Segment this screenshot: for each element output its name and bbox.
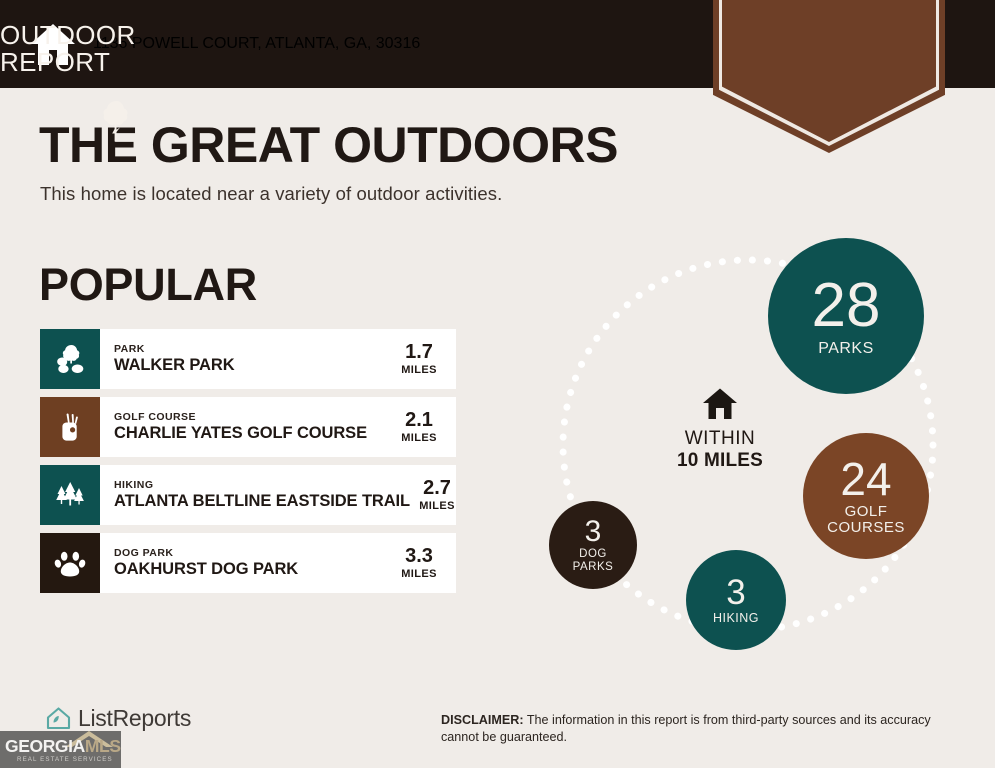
distance-value: 2.7 <box>423 478 451 499</box>
stat-count: 24 <box>840 456 891 502</box>
outdoor-report-page: 1136 POWELL COURT, ATLANTA, GA, 30316 OU… <box>0 0 995 768</box>
list-item-name: CHARLIE YATES GOLF COURSE <box>114 424 392 443</box>
listreports-house-icon <box>45 705 72 732</box>
paw-print-icon <box>40 533 100 593</box>
park-tree-icon <box>40 329 100 389</box>
listreports-wordmark: ListReports <box>78 705 191 732</box>
list-item-name: ATLANTA BELTLINE EASTSIDE TRAIL <box>114 492 410 511</box>
list-item-distance: 2.1 MILES <box>392 397 456 457</box>
distance-value: 1.7 <box>405 342 433 363</box>
center-text-line1: WITHIN <box>655 428 785 450</box>
list-item-category: GOLF COURSE <box>114 411 392 424</box>
badge-title-line2: REPORT <box>0 49 232 76</box>
list-item-name: WALKER PARK <box>114 356 392 375</box>
mls-primary: GEORGIA <box>5 736 85 756</box>
distance-unit: MILES <box>401 567 437 581</box>
listreports-logo[interactable]: ListReports <box>45 705 191 732</box>
stat-label-line2: COURSES <box>827 520 905 536</box>
list-item-category: HIKING <box>114 479 410 492</box>
list-item-distance: 2.7 MILES <box>410 465 474 525</box>
mls-secondary: MLS <box>85 736 121 756</box>
badge-title-line1: OUTDOOR <box>0 22 232 49</box>
popular-list: PARK WALKER PARK 1.7 MILES GOLF COURSE C… <box>40 329 456 601</box>
stat-bubble-golf-courses[interactable]: 24 GOLF COURSES <box>803 433 929 559</box>
home-icon <box>702 387 738 420</box>
stat-label: PARKS <box>818 341 874 358</box>
distance-unit: MILES <box>419 499 455 513</box>
list-item-text: PARK WALKER PARK <box>100 329 392 389</box>
infographic-center: WITHIN 10 MILES <box>655 387 785 472</box>
list-item-text: GOLF COURSE CHARLIE YATES GOLF COURSE <box>100 397 392 457</box>
page-subtitle: This home is located near a variety of o… <box>40 183 502 205</box>
list-item[interactable]: GOLF COURSE CHARLIE YATES GOLF COURSE 2.… <box>40 397 456 457</box>
list-item-distance: 3.3 MILES <box>392 533 456 593</box>
distance-value: 3.3 <box>405 546 433 567</box>
disclaimer: DISCLAIMER: The information in this repo… <box>441 712 961 746</box>
stat-count: 28 <box>812 275 881 337</box>
list-item-text: DOG PARK OAKHURST DOG PARK <box>100 533 392 593</box>
stat-bubble-hiking[interactable]: 3 HIKING <box>686 550 786 650</box>
outdoor-stats-infographic: 28 PARKS 24 GOLF COURSES 3 HIKING 3 DOG … <box>500 215 995 675</box>
list-item[interactable]: DOG PARK OAKHURST DOG PARK 3.3 MILES <box>40 533 456 593</box>
list-item-name: OAKHURST DOG PARK <box>114 560 392 579</box>
list-item-category: DOG PARK <box>114 547 392 560</box>
center-text-line2: 10 MILES <box>655 450 785 472</box>
stat-label-line1: GOLF <box>845 504 888 520</box>
badge-title: OUTDOOR REPORT <box>0 22 232 76</box>
list-item-text: HIKING ATLANTA BELTLINE EASTSIDE TRAIL <box>100 465 410 525</box>
tree-icon <box>102 100 132 142</box>
outdoor-report-badge <box>713 0 945 153</box>
list-item-distance: 1.7 MILES <box>392 329 456 389</box>
stat-bubble-parks[interactable]: 28 PARKS <box>768 238 924 394</box>
georgia-mls-logo: GEORGIAMLS REAL ESTATE SERVICES <box>0 731 121 768</box>
distance-value: 2.1 <box>405 410 433 431</box>
list-item-category: PARK <box>114 343 392 356</box>
badge-face <box>722 0 936 142</box>
stat-bubble-dog-parks[interactable]: 3 DOG PARKS <box>549 501 637 589</box>
list-item[interactable]: PARK WALKER PARK 1.7 MILES <box>40 329 456 389</box>
distance-unit: MILES <box>401 431 437 445</box>
popular-heading: POPULAR <box>39 262 257 307</box>
stat-count: 3 <box>585 517 602 547</box>
disclaimer-label: DISCLAIMER: <box>441 713 524 727</box>
georgia-mls-wordmark: GEORGIAMLS <box>5 736 121 757</box>
stat-label-line2: PARKS <box>573 561 614 573</box>
list-item[interactable]: HIKING ATLANTA BELTLINE EASTSIDE TRAIL 2… <box>40 465 456 525</box>
pine-trees-icon <box>40 465 100 525</box>
golf-bag-icon <box>40 397 100 457</box>
mls-tagline: REAL ESTATE SERVICES <box>17 756 113 763</box>
stat-count: 3 <box>726 575 745 610</box>
stat-label-line1: DOG <box>579 548 607 560</box>
distance-unit: MILES <box>401 363 437 377</box>
stat-label: HIKING <box>713 612 759 625</box>
